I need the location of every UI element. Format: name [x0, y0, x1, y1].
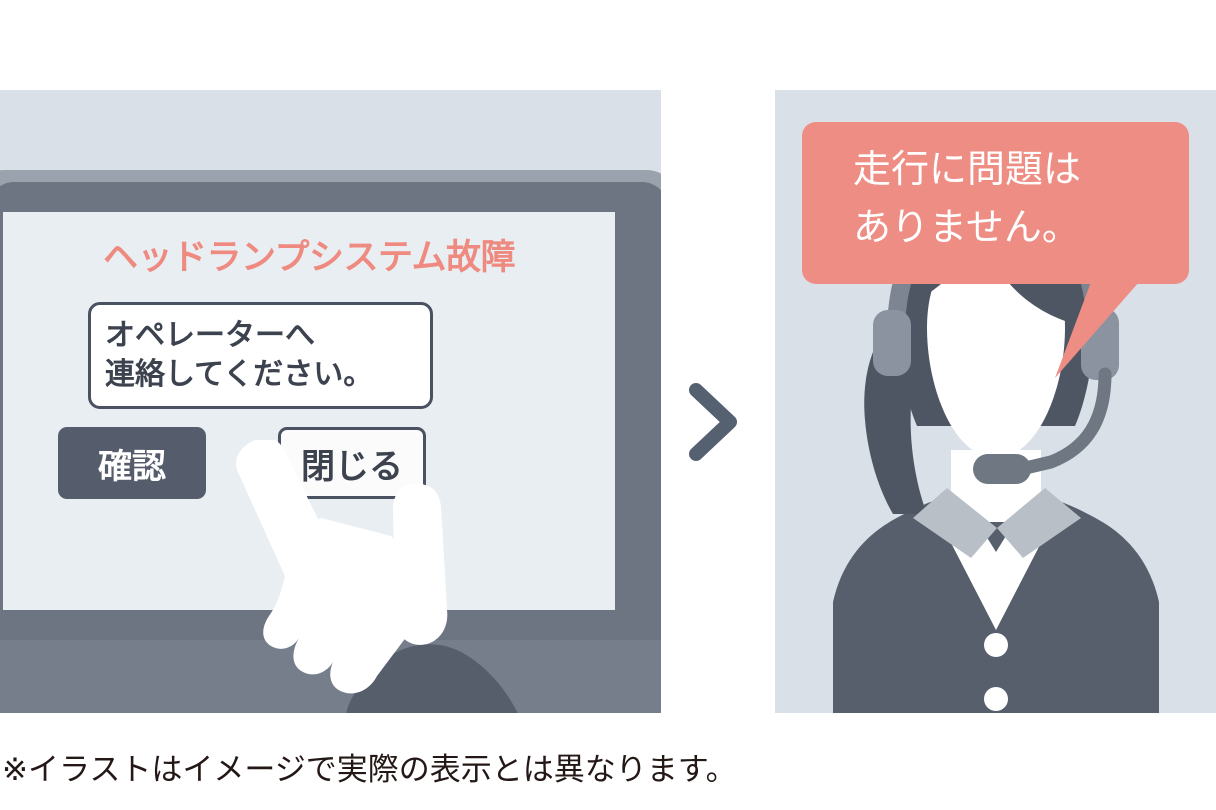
footnote-caption: ※イラストはイメージで実際の表示とは異なります。 — [2, 744, 737, 789]
uniform-button — [984, 633, 1008, 657]
alert-message-line-1: オペレーターへ — [105, 317, 430, 355]
uniform-button — [984, 687, 1008, 711]
alert-title: ヘッドランプシステム故障 — [3, 229, 615, 280]
speech-bubble-tail — [1051, 282, 1141, 382]
close-button[interactable]: 閉じる — [278, 427, 426, 499]
alert-message-line-2: 連絡してください。 — [105, 356, 430, 394]
confirm-button[interactable]: 確認 — [58, 427, 206, 499]
left-panel-tablet-alert: ヘッドランプシステム故障 オペレーターへ 連絡してください。 確認 閉じる — [0, 90, 661, 713]
speech-bubble: 走行に問題は ありません。 — [802, 122, 1189, 284]
right-panel-operator: 走行に問題は ありません。 — [775, 90, 1216, 713]
speech-line-2: ありません。 — [853, 200, 1189, 258]
chevron-right-icon — [686, 382, 742, 462]
alert-message-box: オペレーターへ 連絡してください。 — [88, 302, 433, 409]
tablet-screen: ヘッドランプシステム故障 オペレーターへ 連絡してください。 確認 閉じる — [3, 212, 615, 610]
speech-line-1: 走行に問題は — [853, 142, 1189, 200]
dashboard-lower-panel — [0, 632, 661, 713]
